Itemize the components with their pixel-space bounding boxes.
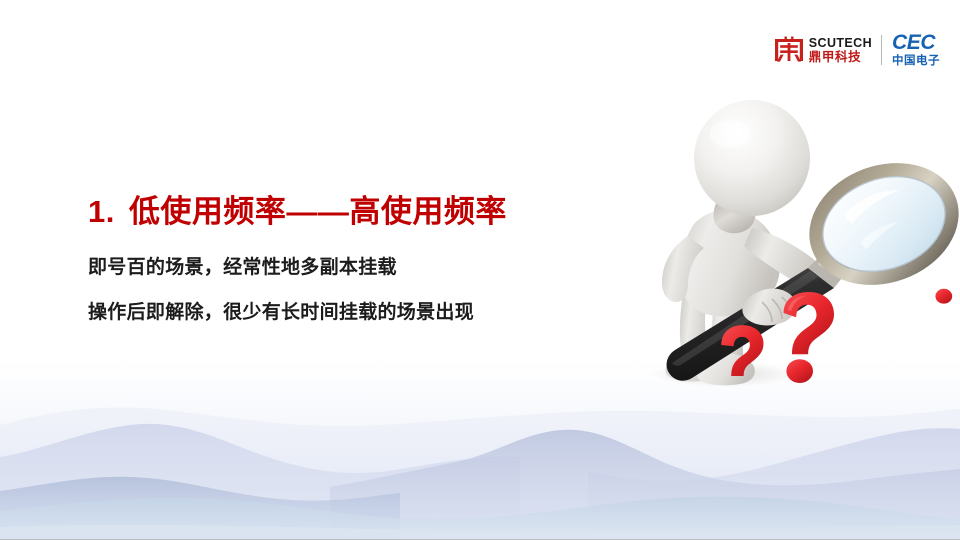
- scutech-english-name: SCUTECH: [809, 37, 872, 50]
- cec-chinese-name: 中国电子: [892, 56, 940, 68]
- scutech-wordmark: SCUTECH 鼎甲科技: [809, 37, 872, 64]
- scutech-logo: SCUTECH 鼎甲科技: [774, 36, 872, 65]
- 3d-person-figure-icon: [612, 96, 960, 408]
- question-mark-glyph: [784, 292, 834, 383]
- body-line-2: 操作后即解除，很少有长时间挂载的场景出现: [88, 297, 474, 324]
- logo-divider: [881, 35, 882, 65]
- illustration-3d-person: [612, 96, 960, 408]
- scutech-seal-icon: [774, 36, 804, 65]
- cec-logo: CEC 中国电子: [891, 32, 940, 68]
- scutech-chinese-name: 鼎甲科技: [809, 51, 872, 64]
- logo-bar: SCUTECH 鼎甲科技 CEC 中国电子: [774, 30, 940, 70]
- heading-number: 1.: [88, 194, 115, 229]
- slide-heading: 1.低使用频率——高使用频率: [88, 186, 507, 231]
- body-line-1: 即号百的场景，经常性地多副本挂载: [88, 252, 397, 279]
- heading-text: 低使用频率——高使用频率: [129, 194, 507, 229]
- cec-english-name: CEC: [892, 32, 940, 53]
- slide-canvas: SCUTECH 鼎甲科技 CEC 中国电子 1.低使用频率——高使用频率 即号百…: [0, 0, 960, 540]
